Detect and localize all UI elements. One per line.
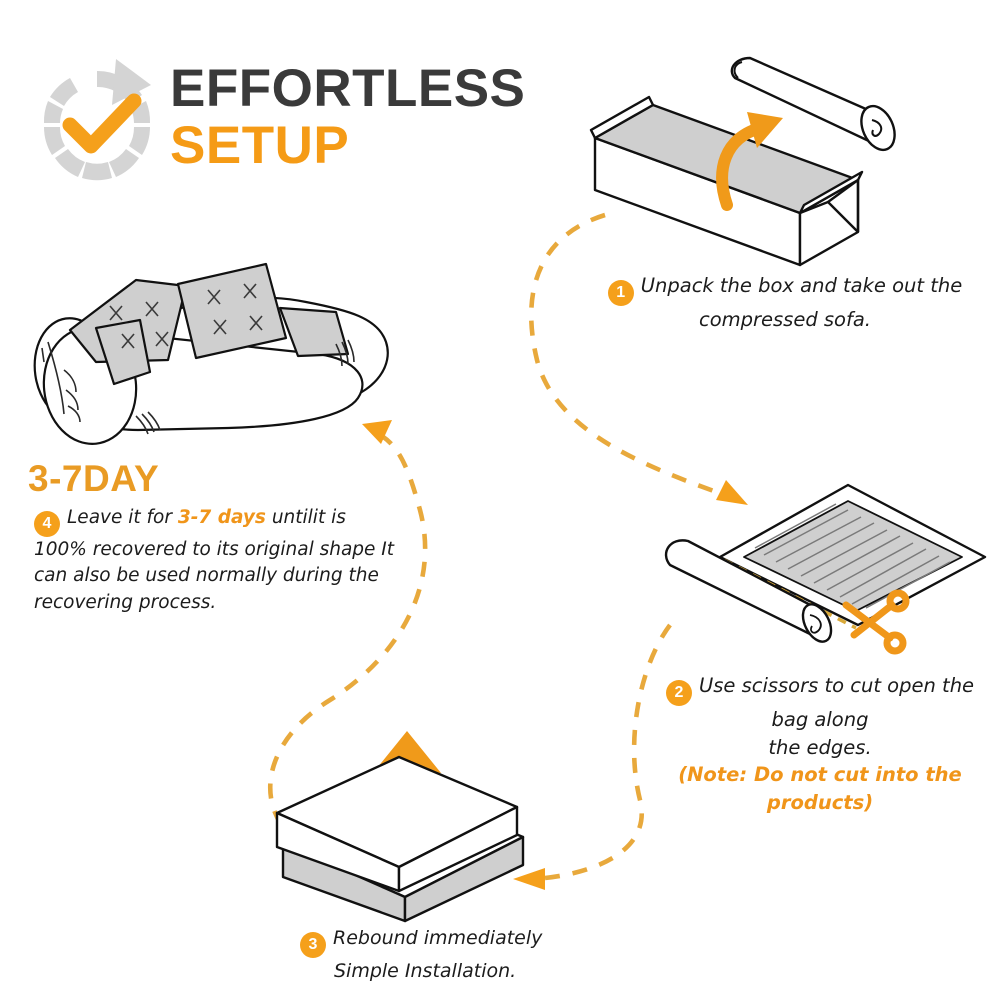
step-4-badge: 4 [34,511,60,537]
foam-block-illustration [265,725,545,925]
step-1-line-2: compressed sofa. [699,308,871,331]
infographic-canvas: EFFORTLESS SETUP [0,0,1000,1000]
step-2-line-1: Use scissors to cut open the bag along [699,674,974,731]
shipping-box-illustration [575,50,975,265]
step-3-badge: 3 [300,932,326,958]
step-2-text: 2Use scissors to cut open the bag along … [655,672,985,817]
step-1-badge: 1 [608,280,634,306]
step-4-highlight: 3-7 days [178,507,266,528]
step-4-text-before: Leave it for [67,507,178,528]
step-3-line-1: Rebound immediately [333,927,542,949]
step-2-note: (Note: Do not cut into the products) [678,763,962,814]
sofa-illustration [18,250,418,460]
step-2-badge: 2 [666,680,692,706]
step-1-line-1: Unpack the box and take out the [641,274,963,297]
step-4-text: 4Leave it for 3-7 days untilit is 100% r… [34,505,394,616]
step-3-line-2: Simple Installation. [334,958,516,985]
step-1-text: 1Unpack the box and take out the compres… [600,272,970,334]
recovery-days-heading: 3-7DAY [28,458,159,500]
step-3-text: 3Rebound immediately Simple Installation… [300,925,550,985]
bag-scissors-illustration [640,475,1000,660]
step-2-line-2: the edges. [768,736,871,759]
